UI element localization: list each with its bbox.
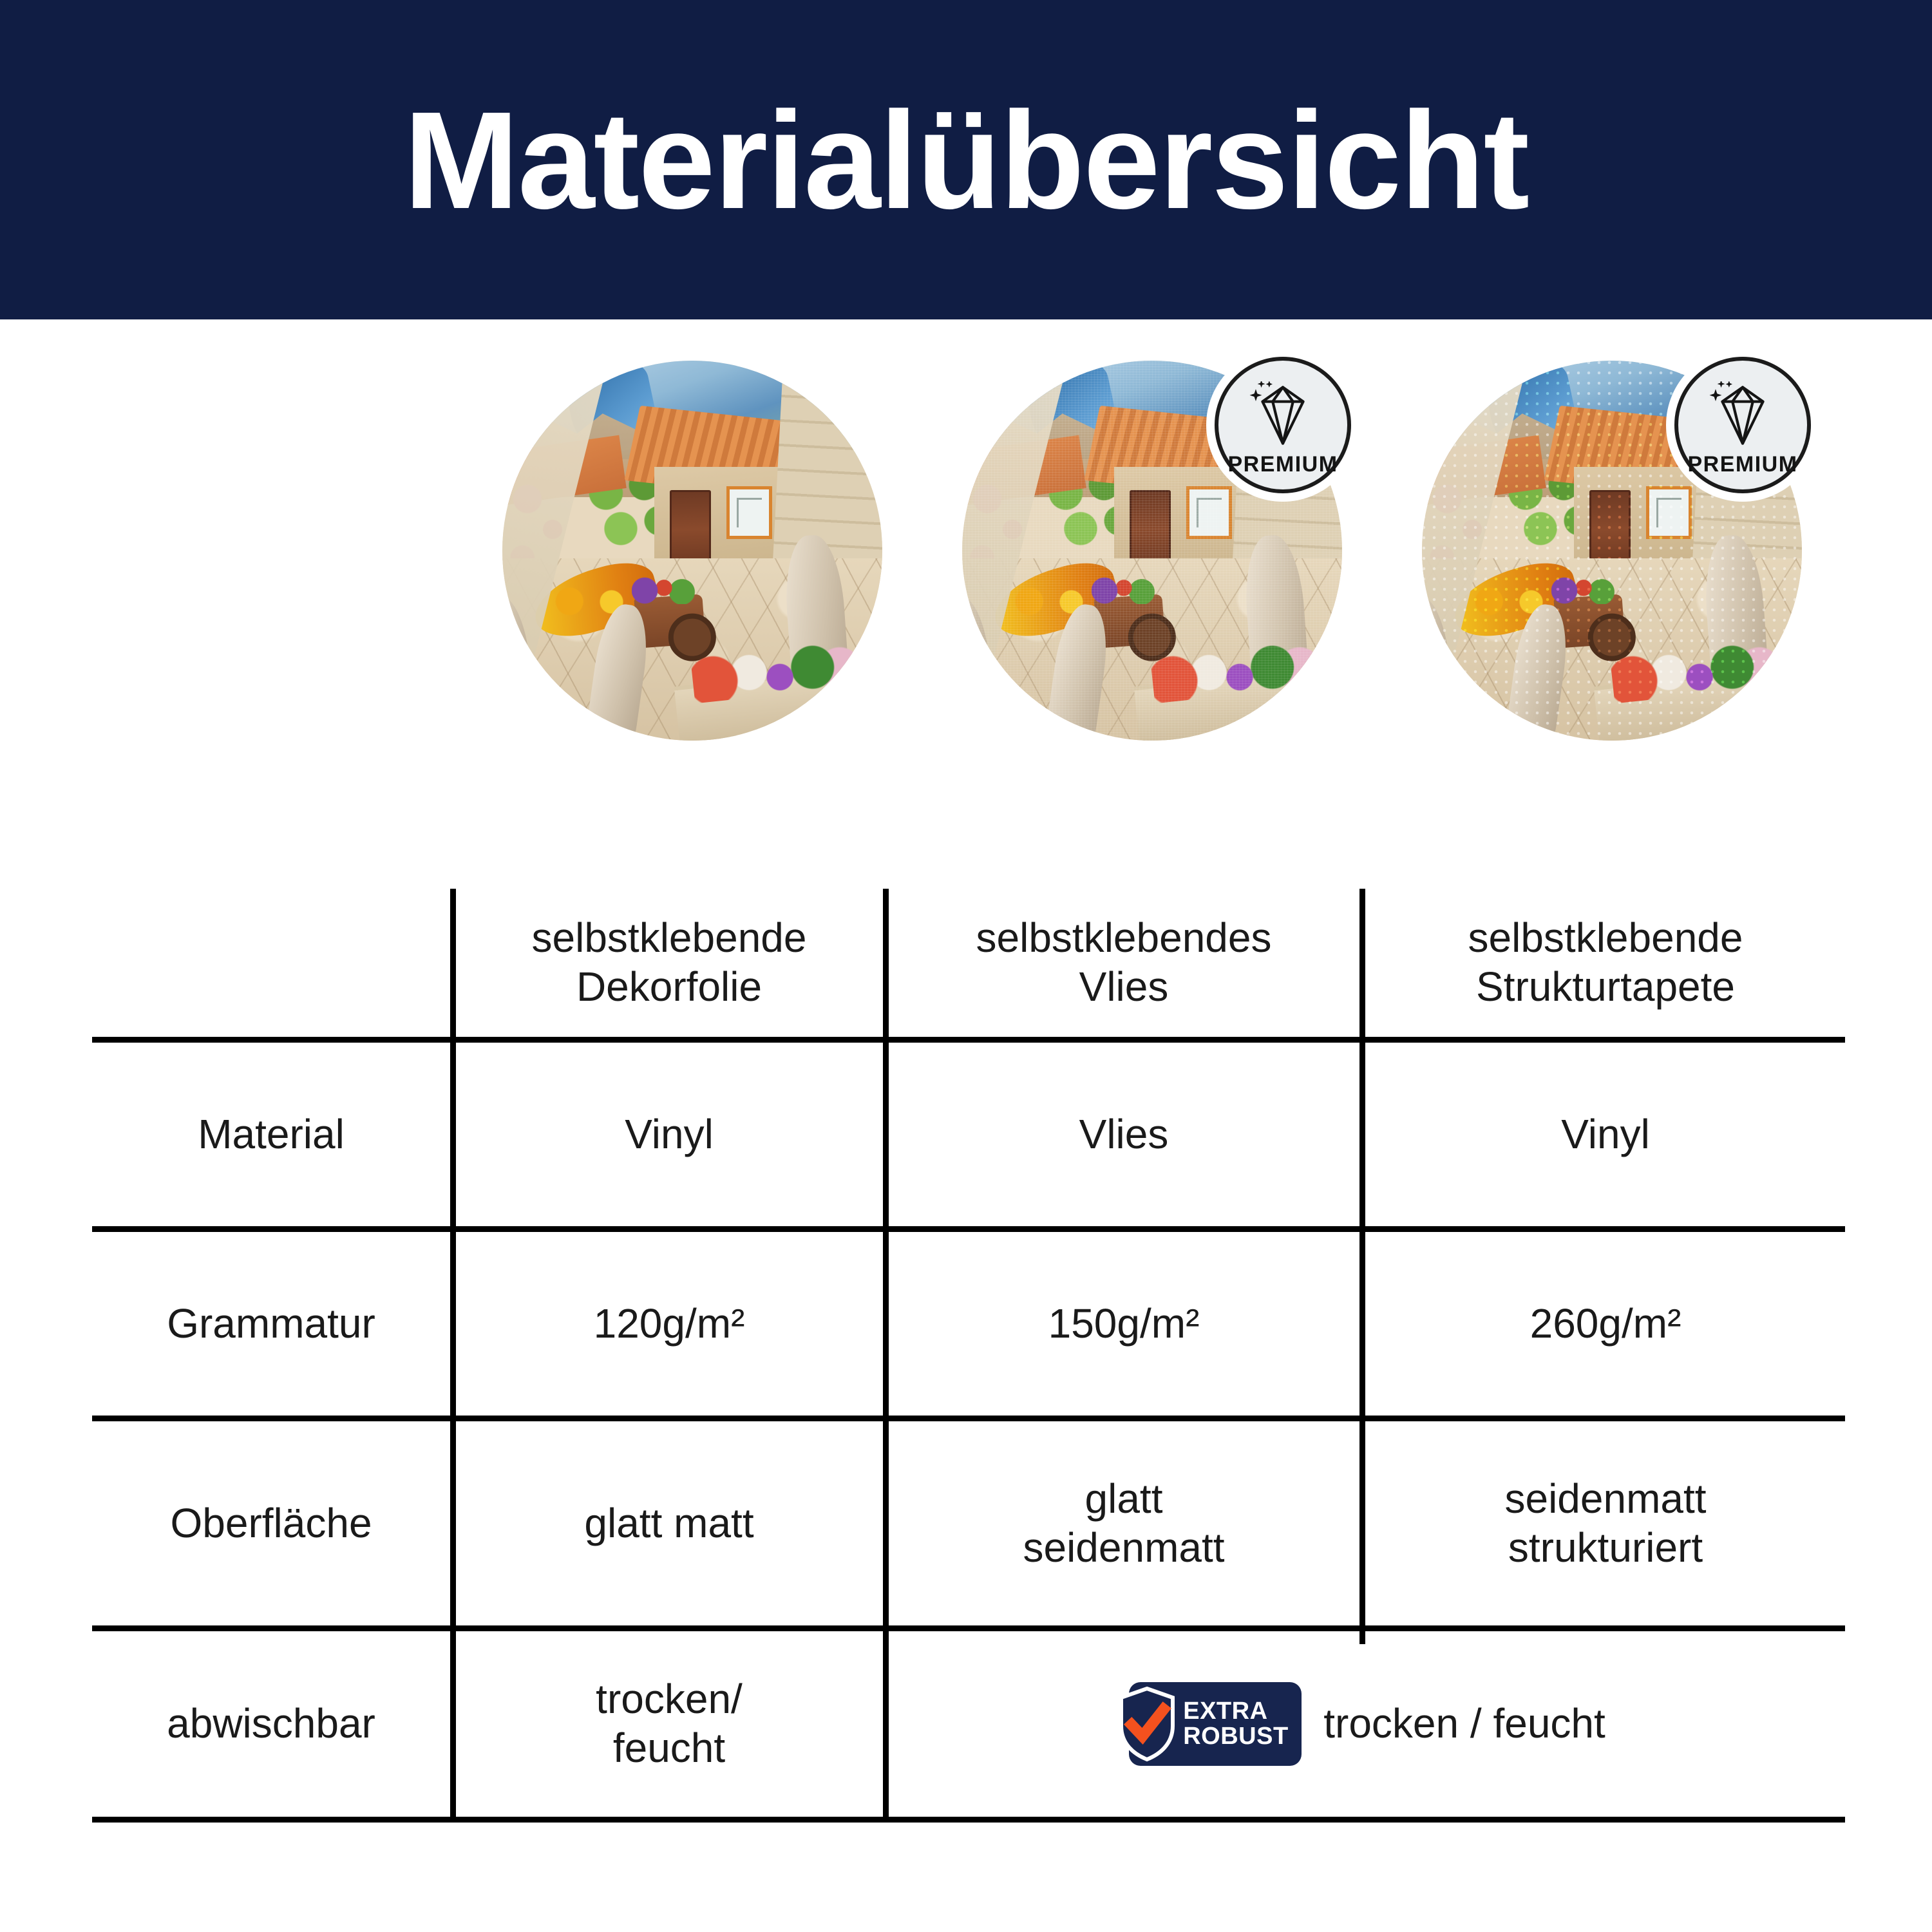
extra-robust-text: EXTRA ROBUST xyxy=(1183,1699,1288,1749)
swatch-vlies[interactable]: PREMIUM xyxy=(962,361,1342,741)
cell-abwischbar-merged: EXTRA ROBUST trocken / feucht xyxy=(889,1631,1845,1817)
table-rule-header xyxy=(92,1037,1845,1043)
row-label-material: Material xyxy=(92,1043,450,1226)
cell-abwischbar-dekorfolie: trocken/ feucht xyxy=(457,1631,882,1817)
table-divider-1 xyxy=(450,889,456,1817)
column-header-vlies: selbstklebendes Vlies xyxy=(889,889,1358,1037)
row-label-grammatur: Grammatur xyxy=(92,1232,450,1416)
column-header-line2: Dekorfolie xyxy=(576,963,762,1012)
premium-badge: PREMIUM xyxy=(1674,357,1811,493)
scene-illustration xyxy=(502,361,882,741)
column-header-line2: Vlies xyxy=(1079,963,1169,1012)
swatch-dekorfolie[interactable] xyxy=(502,361,882,741)
diamond-icon xyxy=(1707,381,1779,448)
cell-material-dekorfolie: Vinyl xyxy=(457,1043,882,1226)
table-divider-3 xyxy=(1359,889,1365,1644)
window xyxy=(726,486,772,540)
column-header-line1: selbstklebende xyxy=(1468,914,1743,963)
premium-badge: PREMIUM xyxy=(1215,357,1351,493)
swatch-image-dekorfolie xyxy=(502,361,882,741)
material-comparison-table: selbstklebende Dekorfolie selbstklebende… xyxy=(92,871,1845,1821)
column-header-dekorfolie: selbstklebende Dekorfolie xyxy=(457,889,882,1037)
extra-robust-badge: EXTRA ROBUST xyxy=(1129,1682,1302,1766)
column-header-line1: selbstklebendes xyxy=(976,914,1272,963)
table-rule-3 xyxy=(92,1625,1845,1631)
material-overview-page: Materialübersicht xyxy=(0,0,1932,1932)
premium-label: PREMIUM xyxy=(1687,452,1797,477)
cell-line2: seidenmatt xyxy=(1023,1524,1224,1573)
table-rule-2 xyxy=(92,1416,1845,1421)
robust-line1: EXTRA xyxy=(1183,1699,1288,1724)
cell-oberflaeche-vlies: glatt seidenmatt xyxy=(889,1421,1358,1625)
cell-oberflaeche-dekorfolie: glatt matt xyxy=(457,1421,882,1625)
page-header: Materialübersicht xyxy=(0,0,1932,319)
cell-oberflaeche-strukturtapete: seidenmatt strukturiert xyxy=(1366,1421,1845,1625)
swatch-strukturtapete[interactable]: PREMIUM xyxy=(1422,361,1802,741)
premium-label: PREMIUM xyxy=(1227,452,1338,477)
robust-line2: ROBUST xyxy=(1183,1724,1288,1749)
cell-material-strukturtapete: Vinyl xyxy=(1366,1043,1845,1226)
cell-line1: trocken/ xyxy=(596,1675,743,1724)
cell-merged-text: trocken / feucht xyxy=(1323,1700,1605,1748)
cell-line2: strukturiert xyxy=(1508,1524,1703,1573)
table-rule-bottom xyxy=(92,1817,1845,1823)
cell-grammatur-dekorfolie: 120g/m² xyxy=(457,1232,882,1416)
column-header-strukturtapete: selbstklebende Strukturtapete xyxy=(1366,889,1845,1037)
cell-line2: feucht xyxy=(613,1724,725,1773)
page-title: Materialübersicht xyxy=(404,91,1528,229)
row-label-oberflaeche: Oberfläche xyxy=(92,1421,450,1625)
table-rule-1 xyxy=(92,1226,1845,1232)
column-header-line2: Strukturtapete xyxy=(1476,963,1735,1012)
column-header-line1: selbstklebende xyxy=(532,914,807,963)
cell-line1: glatt xyxy=(1085,1475,1163,1524)
cell-grammatur-vlies: 150g/m² xyxy=(889,1232,1358,1416)
row-label-abwischbar: abwischbar xyxy=(92,1631,450,1817)
cell-grammatur-strukturtapete: 260g/m² xyxy=(1366,1232,1845,1416)
diamond-icon xyxy=(1247,381,1319,448)
cell-line1: seidenmatt xyxy=(1504,1475,1706,1524)
shield-check-icon xyxy=(1117,1686,1177,1762)
table-divider-2 xyxy=(883,889,889,1817)
cell-material-vlies: Vlies xyxy=(889,1043,1358,1226)
cart-flowers xyxy=(632,577,696,603)
